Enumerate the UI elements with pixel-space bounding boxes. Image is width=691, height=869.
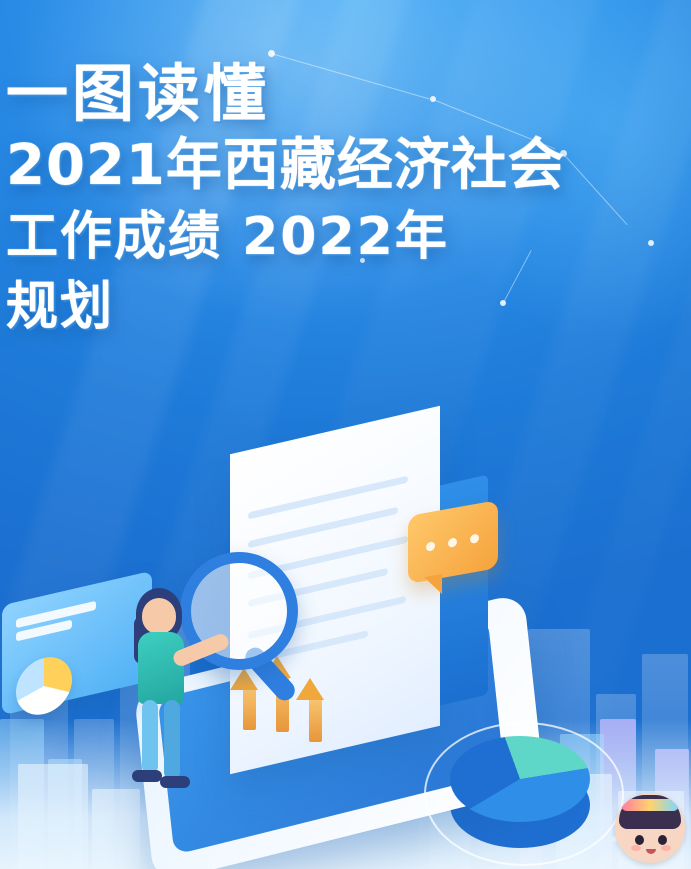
growth-arrow-3	[296, 678, 324, 700]
person-leg-right	[164, 700, 180, 780]
pie-chart-top	[450, 736, 590, 822]
poster-title: 一图读懂 2021年西藏经济社会 工作成绩 2022年 规划	[6, 62, 691, 336]
person-body	[138, 632, 184, 704]
person-head	[142, 598, 176, 634]
pie-chart	[450, 736, 590, 846]
person-shoe-right	[160, 776, 190, 788]
channel-avatar	[615, 793, 685, 863]
title-line-1: 一图读懂	[6, 62, 691, 126]
avatar-cheek-left	[631, 845, 641, 851]
avatar-eye-left	[635, 835, 644, 845]
person-leg-left	[142, 700, 158, 774]
avatar-headband	[621, 799, 679, 811]
poster-canvas: 一图读懂 2021年西藏经济社会 工作成绩 2022年 规划	[0, 0, 691, 869]
avatar-eye-right	[658, 835, 667, 845]
person-shoe-left	[132, 770, 162, 782]
title-line-2: 2021年西藏经济社会	[6, 136, 691, 196]
title-line-4: 规划	[6, 278, 691, 336]
hero-illustration	[120, 420, 590, 869]
avatar-cheek-right	[661, 845, 671, 851]
avatar-mouth	[646, 849, 656, 854]
title-line-3: 工作成绩 2022年	[6, 208, 691, 266]
